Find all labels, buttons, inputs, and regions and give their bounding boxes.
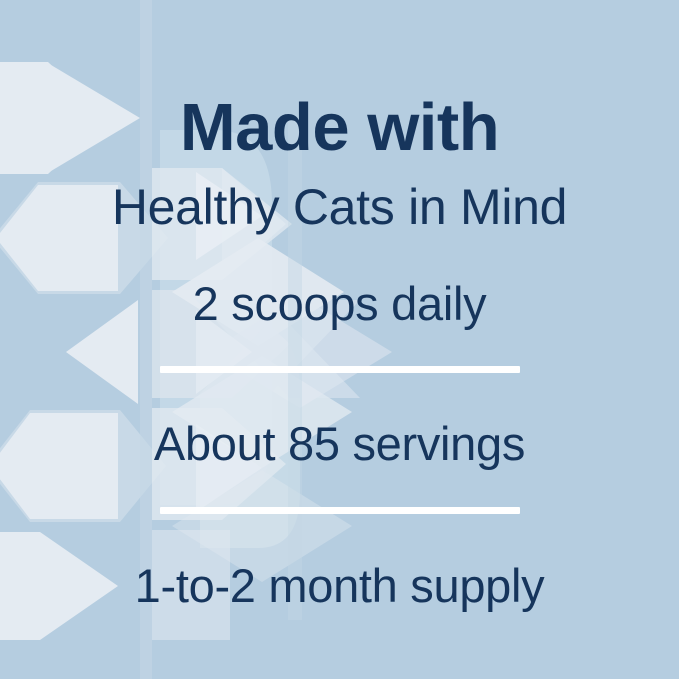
card-content: Made with Healthy Cats in Mind 2 scoops …	[0, 0, 679, 679]
fact-item-servings: About 85 servings	[0, 420, 679, 467]
divider-2	[160, 507, 520, 514]
fact-item-dosage: 2 scoops daily	[0, 280, 679, 327]
divider-1	[160, 366, 520, 373]
headline-block: Made with Healthy Cats in Mind	[0, 0, 679, 232]
fact-item-supply-duration: 1-to-2 month supply	[0, 562, 679, 609]
product-feature-card: Made with Healthy Cats in Mind 2 scoops …	[0, 0, 679, 679]
page-subtitle: Healthy Cats in Mind	[0, 182, 679, 232]
page-title: Made with	[0, 94, 679, 161]
